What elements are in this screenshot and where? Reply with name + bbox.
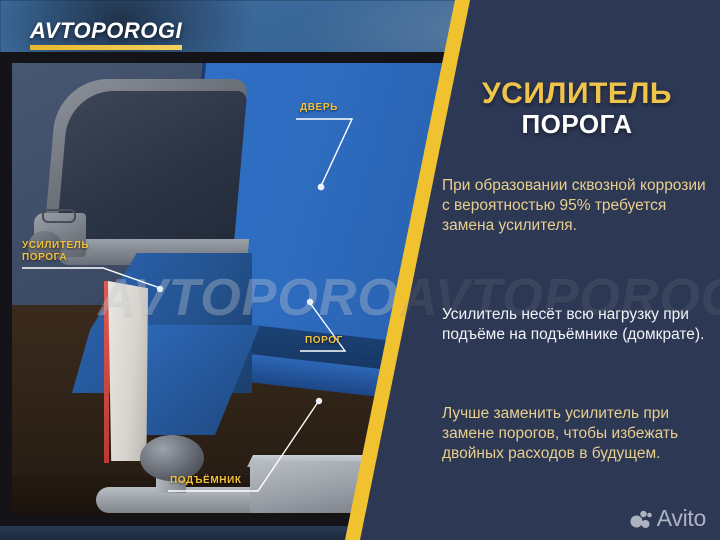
callout-label-door: ДВЕРЬ (300, 102, 338, 114)
callout-label-sill: ПОРОГ (305, 335, 343, 347)
corrosion-line-shape (104, 281, 109, 463)
callout-label-reinforcement: УСИЛИТЕЛЬ ПОРОГА (22, 240, 89, 263)
callout-label-reinforcement-line2: ПОРОГА (22, 252, 67, 263)
lift-arm-shape (96, 487, 276, 513)
paragraph-corrosion: При образовании сквозной коррозии с веро… (442, 176, 712, 236)
sill-reinforcement-shape (108, 281, 148, 461)
headline: УСИЛИТЕЛЬ ПОРОГА (438, 78, 716, 138)
brand-logo-underline (30, 45, 182, 50)
illustration-canvas (12, 63, 472, 515)
promo-image: AVTOPOROGI ДВЕРЬ УСИЛИТЕЛЬ ПОРОГА ПОРОГ … (0, 0, 720, 540)
callout-label-reinforcement-line1: УСИЛИТЕЛЬ (22, 240, 89, 251)
hinge-pin-shape (42, 209, 76, 223)
paragraph-replacement: Лучше заменить усилитель при замене поро… (442, 404, 712, 464)
headline-line1: УСИЛИТЕЛЬ (438, 78, 716, 110)
brand-logo: AVTOPOROGI (30, 18, 182, 50)
avito-logo-icon (630, 508, 652, 530)
brand-logo-text: AVTOPOROGI (30, 18, 182, 44)
avito-logo-text: Avito (657, 505, 706, 532)
headline-line2: ПОРОГА (438, 110, 716, 139)
callout-label-lift: ПОДЪЁМНИК (170, 475, 242, 487)
lift-block-shape (250, 461, 368, 513)
paragraph-load: Усилитель несёт всю нагрузку при подъёме… (442, 305, 712, 345)
text-column: УСИЛИТЕЛЬ ПОРОГА При образовании сквозно… (438, 0, 716, 540)
car-sill-cutaway-illustration (12, 63, 472, 515)
avito-watermark: Avito (630, 505, 706, 532)
illustration-frame (0, 52, 480, 526)
